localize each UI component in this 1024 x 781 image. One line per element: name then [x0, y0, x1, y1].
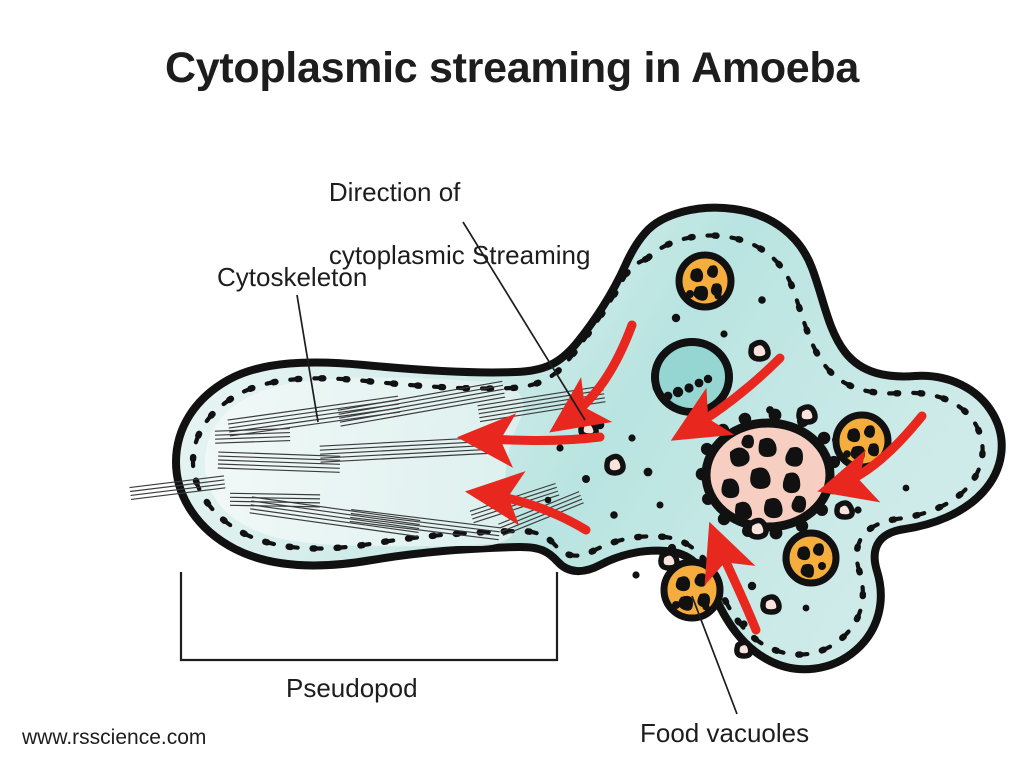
small-vesicle [799, 407, 815, 422]
label-cytoskeleton: Cytoskeleton [217, 262, 367, 294]
label-pseudopod: Pseudopod [286, 673, 418, 705]
small-vesicle [749, 520, 766, 537]
small-vesicle [837, 503, 852, 517]
small-vesicle [763, 597, 779, 612]
amoeba-diagram-svg [0, 0, 1024, 781]
food-vacuole [679, 255, 731, 307]
pseudopod-bracket [181, 572, 557, 660]
watermark-url: www.rsscience.com [22, 725, 206, 751]
small-vesicle [751, 342, 768, 359]
diagram-canvas: Cytoplasmic streaming in Amoeba Directio… [0, 0, 1024, 781]
small-vesicle [607, 456, 623, 473]
page-title: Cytoplasmic streaming in Amoeba [0, 42, 1024, 94]
small-vesicle [737, 642, 751, 656]
label-direction-line1: Direction of [329, 177, 461, 207]
contractile-vacuole [655, 342, 729, 412]
streaming-arrow-left-top [470, 437, 600, 441]
label-food-vacuoles: Food vacuoles [640, 718, 809, 750]
small-vesicle [661, 553, 677, 568]
food-vacuole [786, 533, 836, 583]
label-direction-line2: cytoplasmic Streaming [329, 240, 591, 270]
